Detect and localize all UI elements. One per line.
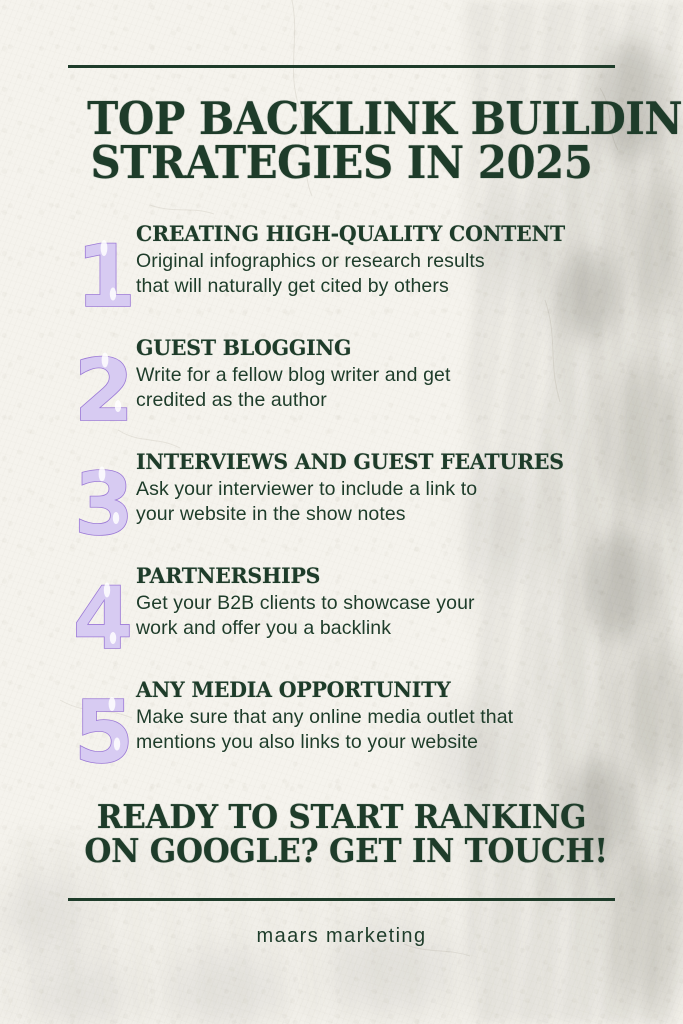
footer-brand: maars marketing xyxy=(68,925,615,948)
numeral-glyph: 4 xyxy=(73,569,133,669)
list-item-description: Get your B2B clients to showcase your wo… xyxy=(136,591,615,642)
desc-line: that will naturally get cited by others xyxy=(136,274,615,299)
list-item: 3 INTERVIEWS AND GUEST FEATURES Ask your… xyxy=(68,448,615,546)
list-item: 5 ANY MEDIA OPPORTUNITY Make sure that a… xyxy=(68,676,615,774)
list-item: 4 PARTNERSHIPS Get your B2B clients to s… xyxy=(68,562,615,660)
desc-line: Write for a fellow blog writer and get xyxy=(136,363,615,388)
page-title: TOP BACKLINK BUILDING STRATEGIES IN 2025 xyxy=(87,97,596,184)
list-item-heading: GUEST BLOGGING xyxy=(136,338,591,361)
list-item-description: Write for a fellow blog writer and get c… xyxy=(136,363,615,414)
desc-line: work and offer you a backlink xyxy=(136,616,615,641)
divider-top xyxy=(68,65,615,68)
title-line-1: TOP BACKLINK BUILDING xyxy=(87,97,596,141)
list-item-body: ANY MEDIA OPPORTUNITY Make sure that any… xyxy=(136,676,615,755)
list-item-heading: PARTNERSHIPS xyxy=(136,566,591,589)
divider-bottom-wrap xyxy=(68,898,615,901)
numeral-badge-1: 1 xyxy=(72,222,138,318)
cta-line-2: ON GOOGLE? GET IN TOUCH! xyxy=(84,834,598,868)
list-item-heading: ANY MEDIA OPPORTUNITY xyxy=(136,680,591,703)
desc-line: your website in the show notes xyxy=(136,502,615,527)
desc-line: Original infographics or research result… xyxy=(136,249,615,274)
strategy-list: 1 CREATING HIGH-QUALITY CONTENT Original… xyxy=(68,220,615,774)
desc-line: credited as the author xyxy=(136,388,615,413)
list-item-body: INTERVIEWS AND GUEST FEATURES Ask your i… xyxy=(136,448,615,527)
list-item-body: GUEST BLOGGING Write for a fellow blog w… xyxy=(136,334,615,413)
list-item: 2 GUEST BLOGGING Write for a fellow blog… xyxy=(68,334,615,432)
title-line-2: STRATEGIES IN 2025 xyxy=(87,141,596,185)
numeral-badge-4: 4 xyxy=(72,564,138,660)
list-item-body: PARTNERSHIPS Get your B2B clients to sho… xyxy=(136,562,615,641)
list-item-description: Original infographics or research result… xyxy=(136,249,615,300)
desc-line: Get your B2B clients to showcase your xyxy=(136,591,615,616)
list-item: 1 CREATING HIGH-QUALITY CONTENT Original… xyxy=(68,220,615,318)
desc-line: Make sure that any online media outlet t… xyxy=(136,705,615,730)
numeral-badge-5: 5 xyxy=(72,678,138,774)
list-item-body: CREATING HIGH-QUALITY CONTENT Original i… xyxy=(136,220,615,299)
poster-content: TOP BACKLINK BUILDING STRATEGIES IN 2025… xyxy=(0,65,683,1024)
call-to-action: READY TO START RANKING ON GOOGLE? GET IN… xyxy=(84,800,598,868)
list-item-description: Ask your interviewer to include a link t… xyxy=(136,477,615,528)
numeral-badge-3: 3 xyxy=(72,450,138,546)
numeral-glyph: 5 xyxy=(74,683,134,783)
list-item-heading: INTERVIEWS AND GUEST FEATURES xyxy=(136,452,591,475)
list-item-heading: CREATING HIGH-QUALITY CONTENT xyxy=(136,224,591,247)
infographic-poster: TOP BACKLINK BUILDING STRATEGIES IN 2025… xyxy=(0,0,683,1024)
list-item-description: Make sure that any online media outlet t… xyxy=(136,705,615,756)
desc-line: mentions you also links to your website xyxy=(136,730,615,755)
cta-line-1: READY TO START RANKING xyxy=(84,800,598,834)
desc-line: Ask your interviewer to include a link t… xyxy=(136,477,615,502)
divider-bottom xyxy=(68,898,615,901)
numeral-badge-2: 2 xyxy=(72,336,138,432)
